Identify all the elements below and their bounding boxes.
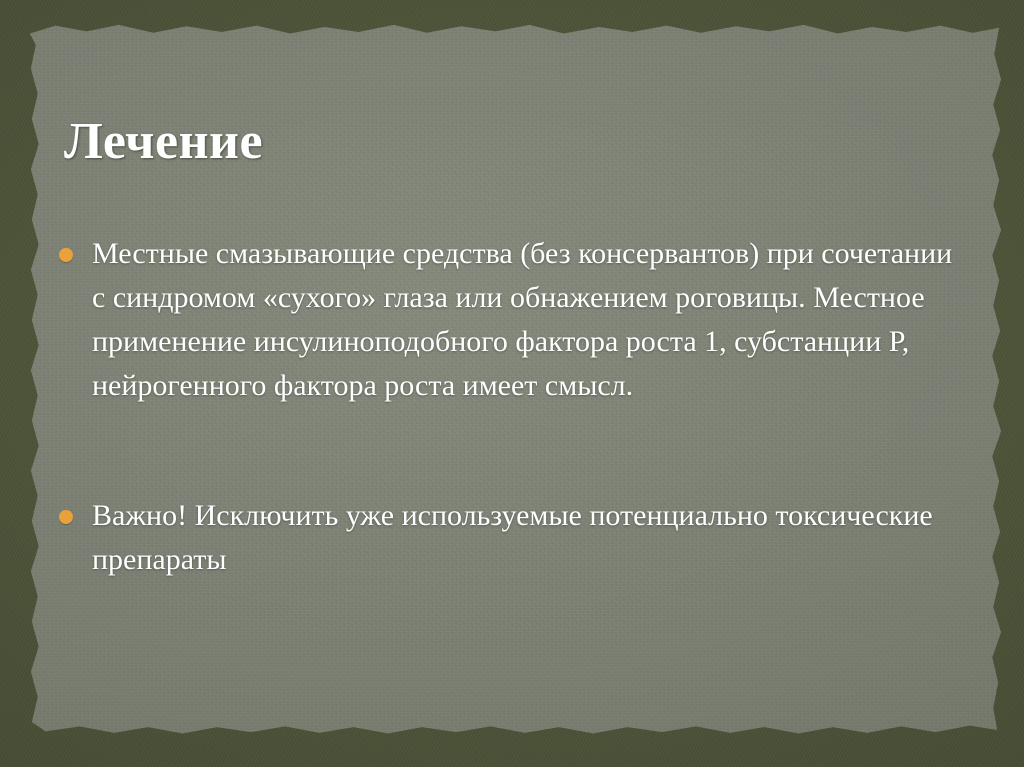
bullet-item-1: Местные смазывающие средства (без консер… [52,232,962,408]
bullet-item-2: Важно! Исключить уже используемые потенц… [52,494,962,582]
presentation-slide: Лечение Местные смазывающие средства (бе… [0,0,1024,767]
orange-dot-bullet-icon [59,248,73,262]
bullet-item-2-text: Важно! Исключить уже используемые потенц… [92,494,962,582]
slide-title: Лечение [64,113,944,171]
slide-content: Лечение Местные смазывающие средства (бе… [0,0,1024,767]
bullet-item-1-text: Местные смазывающие средства (без консер… [92,232,962,408]
orange-dot-bullet-icon [59,510,73,524]
bullet-list: Местные смазывающие средства (без консер… [52,232,962,582]
